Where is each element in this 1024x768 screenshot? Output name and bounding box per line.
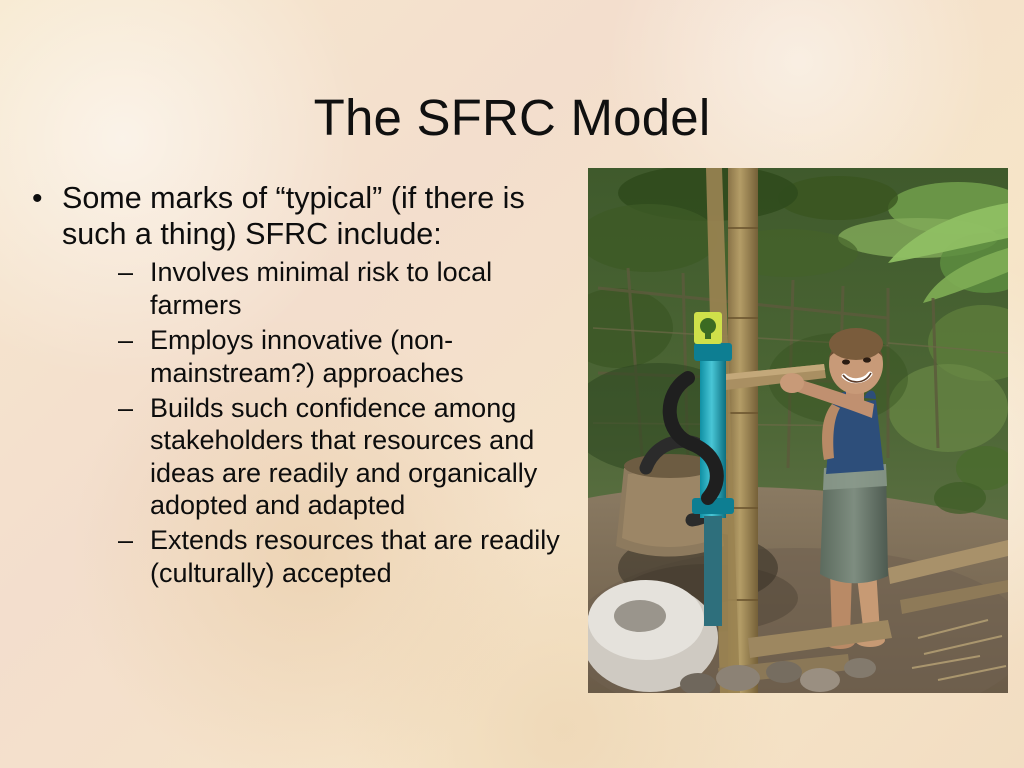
slide: The SFRC Model • Some marks of “typical”… <box>0 0 1024 768</box>
bullet-dash-icon: – <box>118 324 133 356</box>
list-item: – Employs innovative (non-mainstream?) a… <box>62 324 581 389</box>
bullet-text: Employs innovative (non-mainstream?) app… <box>150 324 581 389</box>
list-item: – Extends resources that are readily (cu… <box>62 524 581 589</box>
bullet-list-level2: – Involves minimal risk to local farmers… <box>62 256 581 589</box>
bullet-dash-icon: – <box>118 256 133 288</box>
bullet-text: Some marks of “typical” (if there is suc… <box>62 181 525 251</box>
list-item: • Some marks of “typical” (if there is s… <box>16 181 581 589</box>
page-title: The SFRC Model <box>0 90 1024 146</box>
list-item: – Involves minimal risk to local farmers <box>62 256 581 321</box>
bullet-dot-icon: • <box>32 181 43 216</box>
slide-body: • Some marks of “typical” (if there is s… <box>16 181 581 592</box>
bullet-dash-icon: – <box>118 524 133 556</box>
bullet-list-level1: • Some marks of “typical” (if there is s… <box>16 181 581 589</box>
bullet-text: Extends resources that are readily (cult… <box>150 524 581 589</box>
list-item: – Builds such confidence among stakehold… <box>62 392 581 522</box>
bullet-text: Builds such confidence among stakeholder… <box>150 392 581 522</box>
photo-illustration <box>588 168 1008 693</box>
bullet-text: Involves minimal risk to local farmers <box>150 256 581 321</box>
bullet-dash-icon: – <box>118 392 133 424</box>
photo-boy-at-water-pump <box>588 168 1008 693</box>
